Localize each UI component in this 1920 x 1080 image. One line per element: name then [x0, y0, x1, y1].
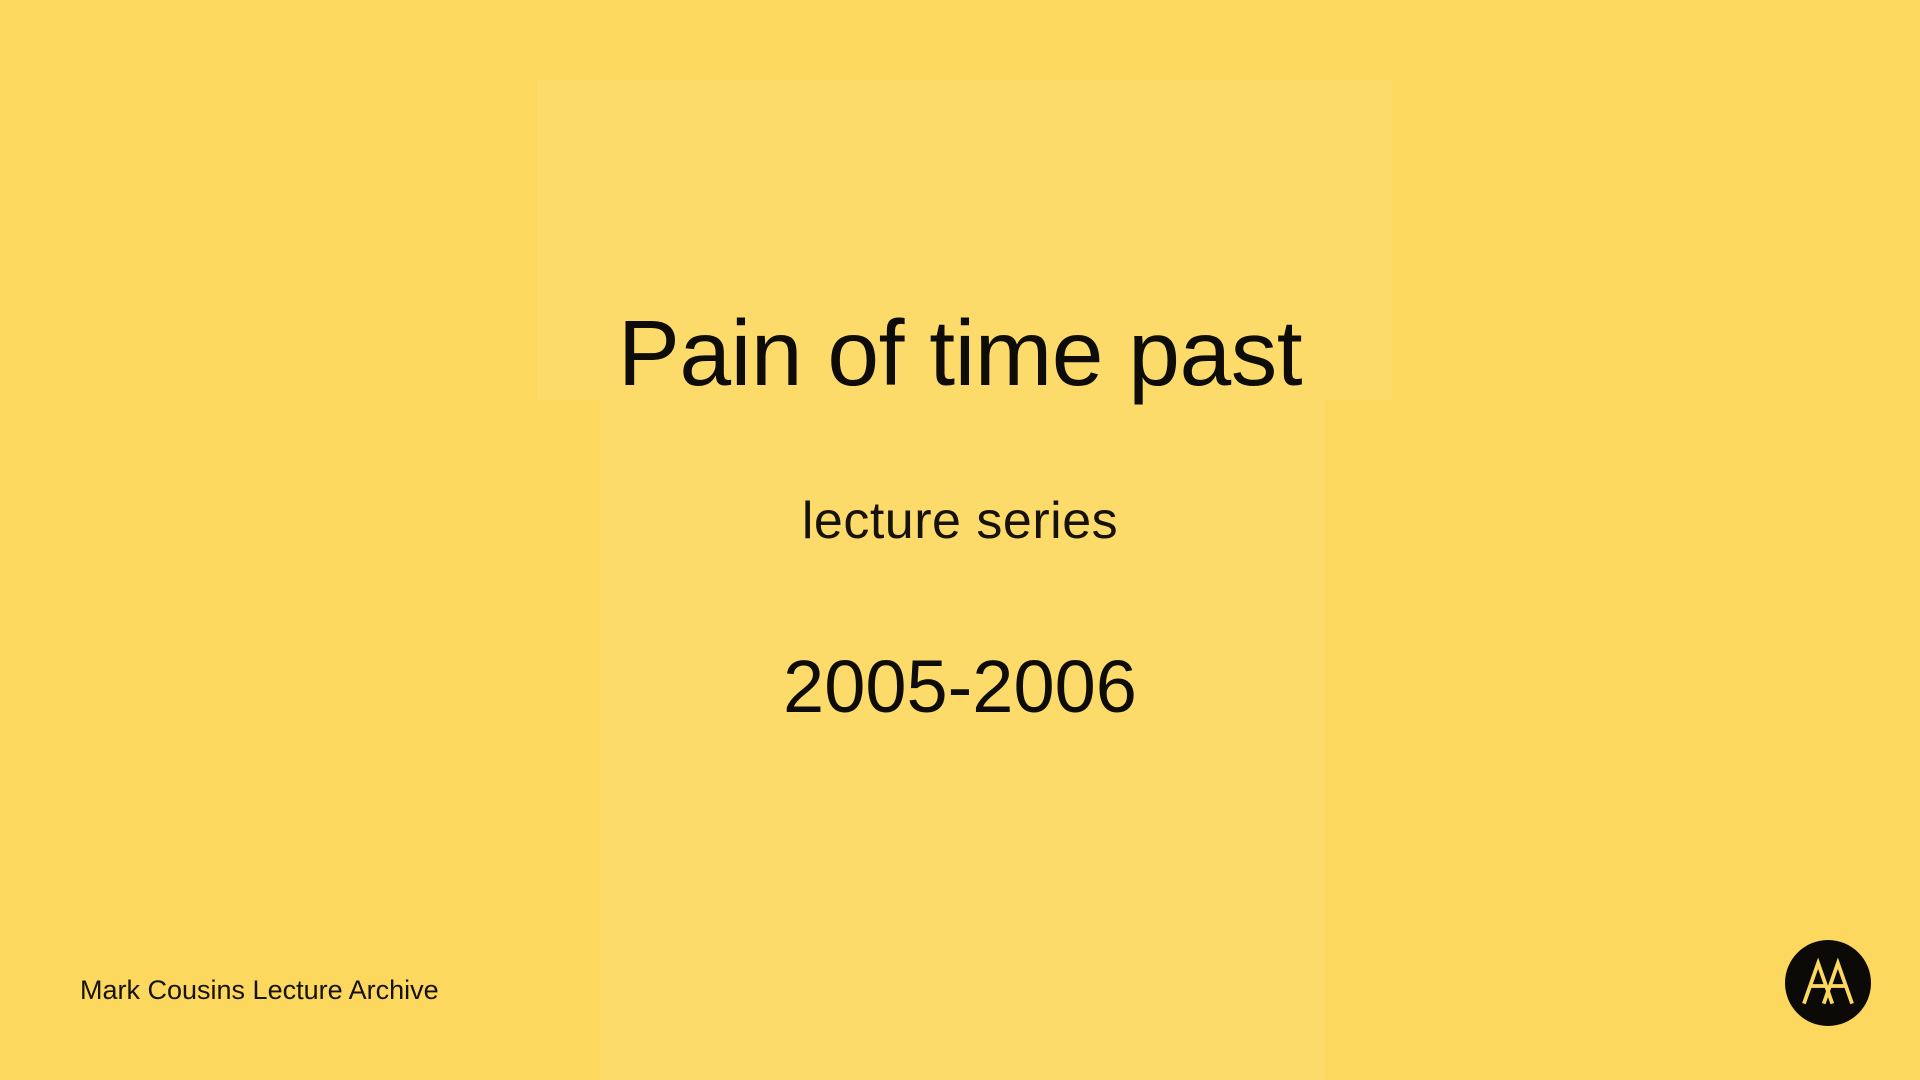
slide-title: Pain of time past: [0, 307, 1920, 400]
archive-credit-label: Mark Cousins Lecture Archive: [80, 975, 439, 1006]
logo-circle: [1785, 940, 1871, 1026]
presentation-slide: Pain of time past lecture series 2005-20…: [0, 0, 1920, 1080]
slide-year-range: 2005-2006: [0, 650, 1920, 724]
slide-content: Pain of time past lecture series 2005-20…: [0, 0, 1920, 1080]
aa-logo: [1785, 940, 1871, 1026]
slide-subtitle: lecture series: [0, 495, 1920, 547]
